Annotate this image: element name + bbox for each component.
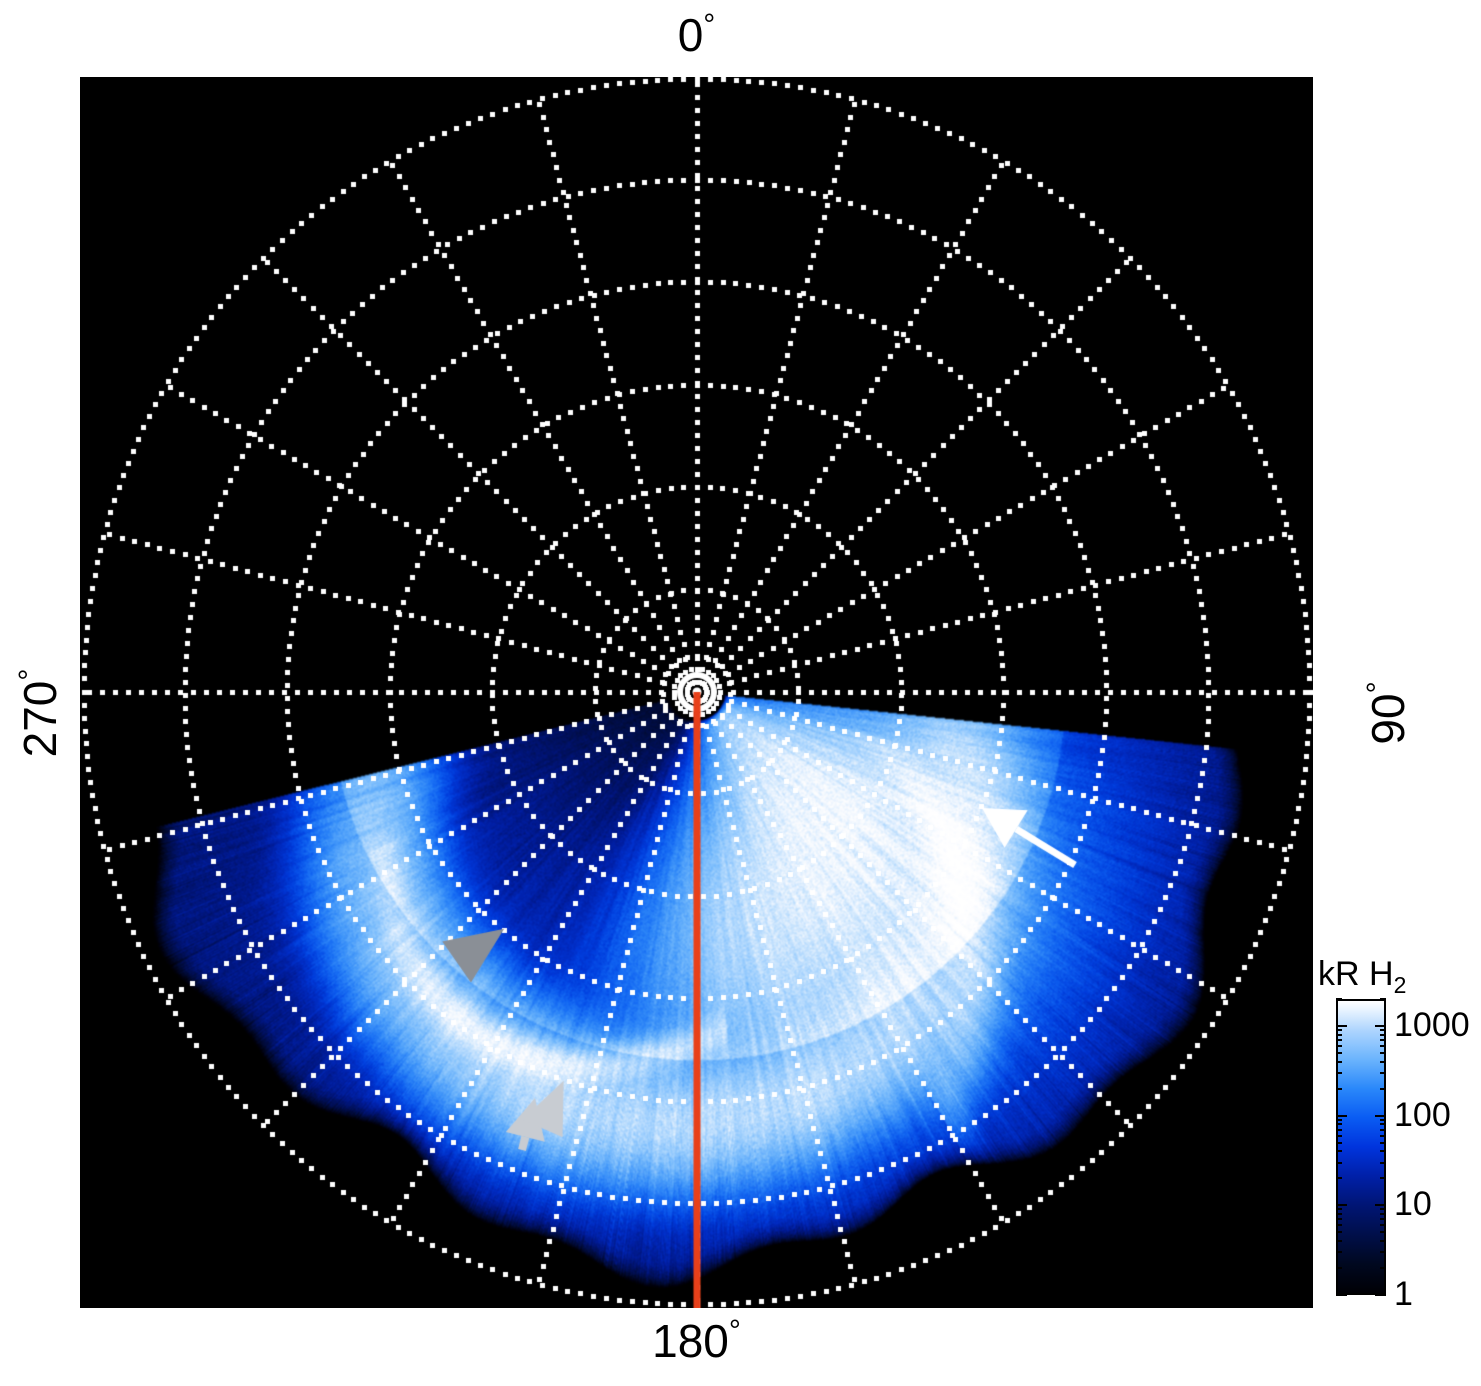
colorbar-gradient bbox=[1336, 999, 1386, 1295]
colorbar-tick-label-1000: 1000 bbox=[1394, 1008, 1470, 1042]
polar-plot-area bbox=[80, 77, 1313, 1308]
colorbar-tick-label-100: 100 bbox=[1394, 1098, 1451, 1132]
colorbar-title: kR H2 bbox=[1318, 955, 1406, 994]
colorbar-tick-label-10: 10 bbox=[1394, 1187, 1432, 1221]
colorbar-tick-label-1: 1 bbox=[1394, 1277, 1413, 1311]
axis-label-180deg: 180° bbox=[0, 1318, 1393, 1364]
axis-label-0deg: 0° bbox=[0, 12, 1393, 58]
axis-label-90deg: 90° bbox=[1365, 613, 1411, 813]
axis-label-270deg: 270° bbox=[17, 613, 63, 813]
annotation-overlay-layer bbox=[80, 77, 1313, 1308]
colorbar: kR H2 1000 100 10 1 bbox=[1318, 955, 1481, 1320]
